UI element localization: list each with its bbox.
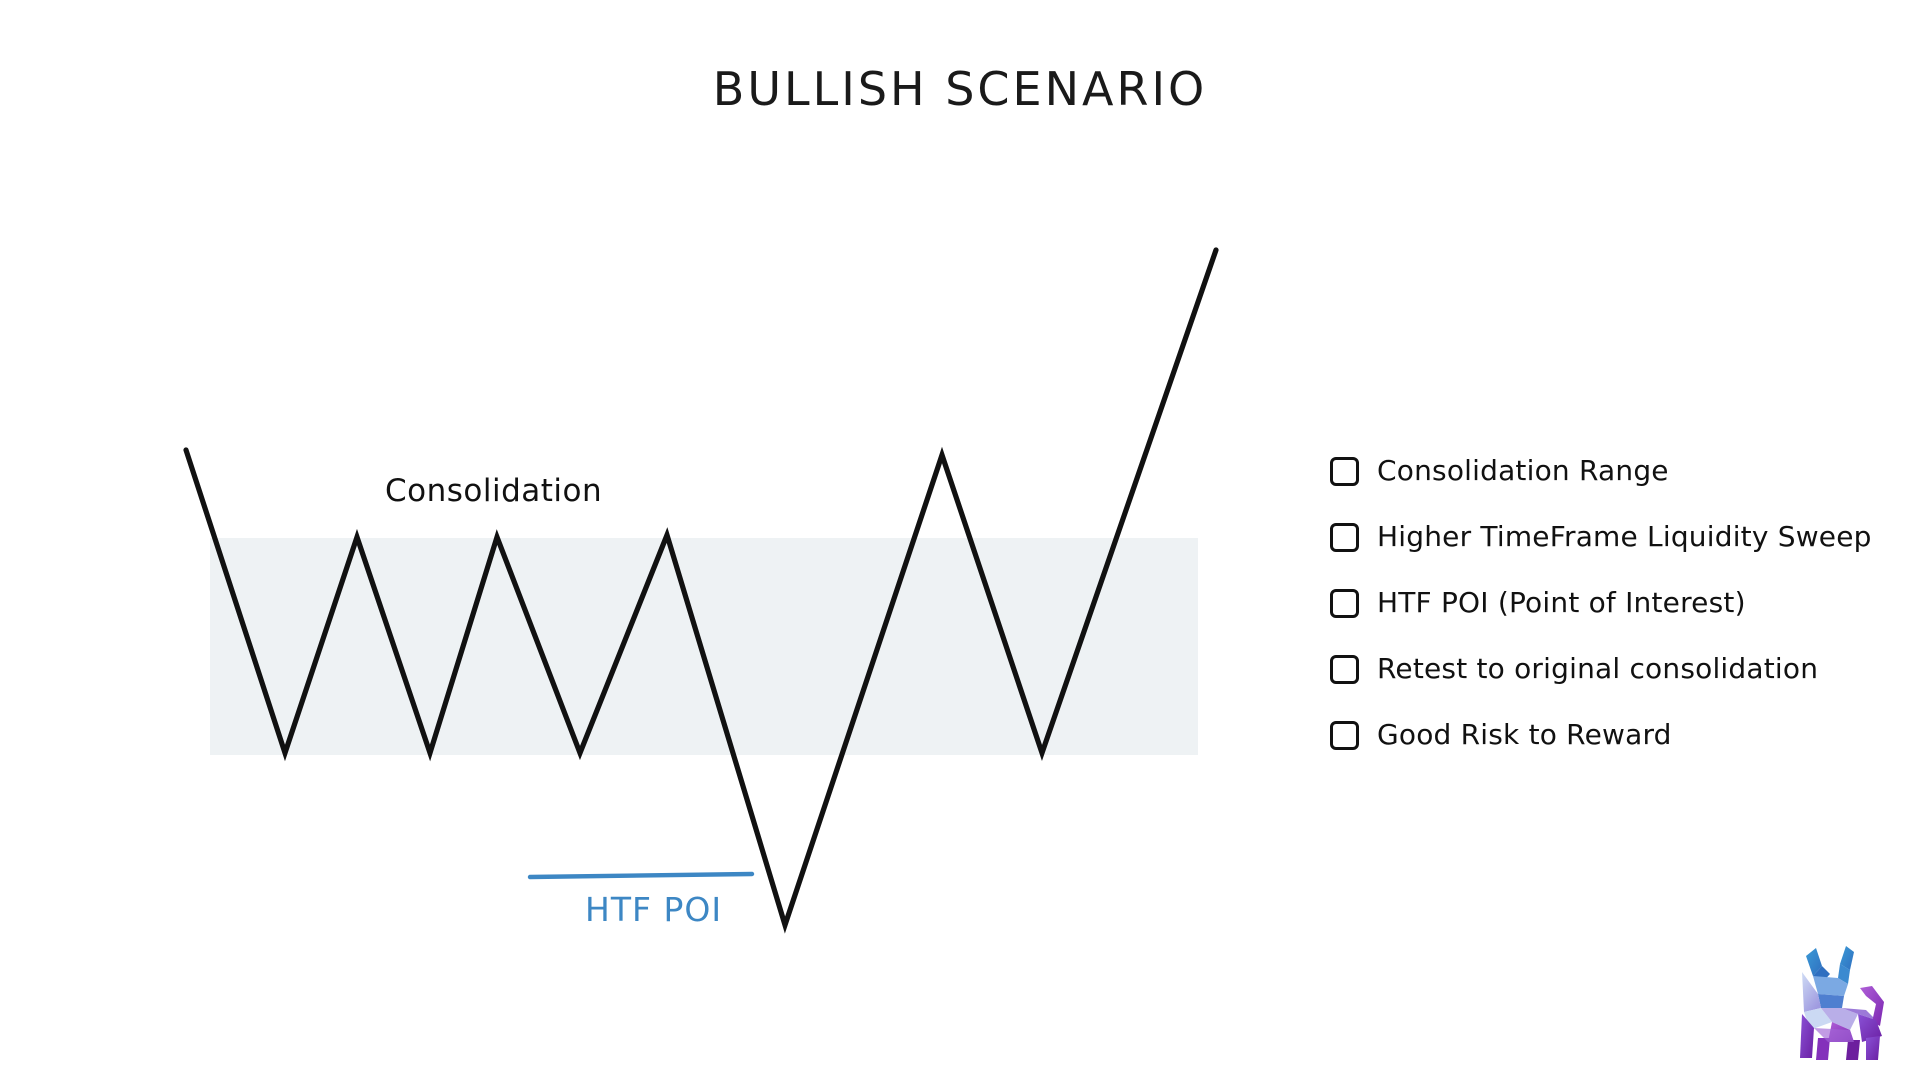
- consolidation-range-zone: [210, 538, 1198, 755]
- checklist: Consolidation Range Higher TimeFrame Liq…: [1330, 438, 1890, 768]
- canvas: BULLISH SCENARIO Consolidation HTF POI C…: [0, 0, 1920, 1080]
- list-item[interactable]: Higher TimeFrame Liquidity Sweep: [1330, 504, 1890, 570]
- consolidation-annotation: Consolidation: [385, 473, 602, 509]
- list-item[interactable]: Consolidation Range: [1330, 438, 1890, 504]
- bull-head-snout: [1818, 994, 1844, 1008]
- checkbox-icon[interactable]: [1330, 655, 1359, 684]
- bull-leg-hind-left: [1846, 1040, 1860, 1060]
- list-item-label: Retest to original consolidation: [1377, 655, 1818, 683]
- list-item-label: Good Risk to Reward: [1377, 721, 1672, 749]
- htf-poi-level-line: [530, 874, 752, 877]
- list-item[interactable]: HTF POI (Point of Interest): [1330, 570, 1890, 636]
- htf-poi-annotation: HTF POI: [585, 890, 722, 929]
- list-item[interactable]: Good Risk to Reward: [1330, 702, 1890, 768]
- bull-leg-hind-right: [1866, 1036, 1880, 1060]
- list-item[interactable]: Retest to original consolidation: [1330, 636, 1890, 702]
- checkbox-icon[interactable]: [1330, 589, 1359, 618]
- bull-logo: [1788, 938, 1908, 1066]
- checkbox-icon[interactable]: [1330, 457, 1359, 486]
- checkbox-icon[interactable]: [1330, 721, 1359, 750]
- list-item-label: Consolidation Range: [1377, 457, 1669, 485]
- list-item-label: HTF POI (Point of Interest): [1377, 589, 1746, 617]
- list-item-label: Higher TimeFrame Liquidity Sweep: [1377, 523, 1872, 551]
- checkbox-icon[interactable]: [1330, 523, 1359, 552]
